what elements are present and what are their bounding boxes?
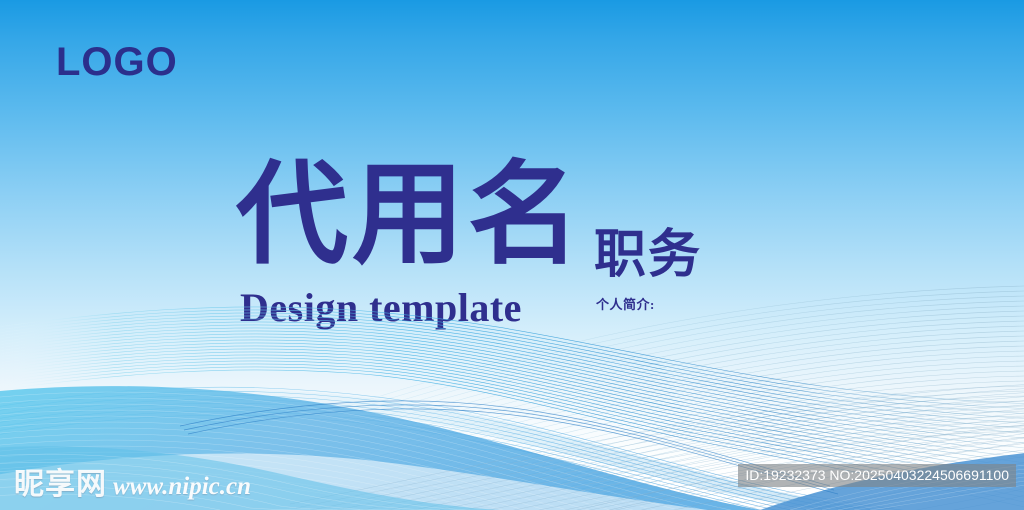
poster-canvas: LOGO 代用名 Design template 职务 个人简介:	[0, 0, 1024, 510]
watermark-id-badge: ID:19232373 NO:20250403224506691100	[738, 464, 1016, 487]
main-title: 代用名	[236, 160, 584, 272]
role-title: 职务	[594, 230, 702, 282]
logo-text: LOGO	[56, 42, 178, 82]
